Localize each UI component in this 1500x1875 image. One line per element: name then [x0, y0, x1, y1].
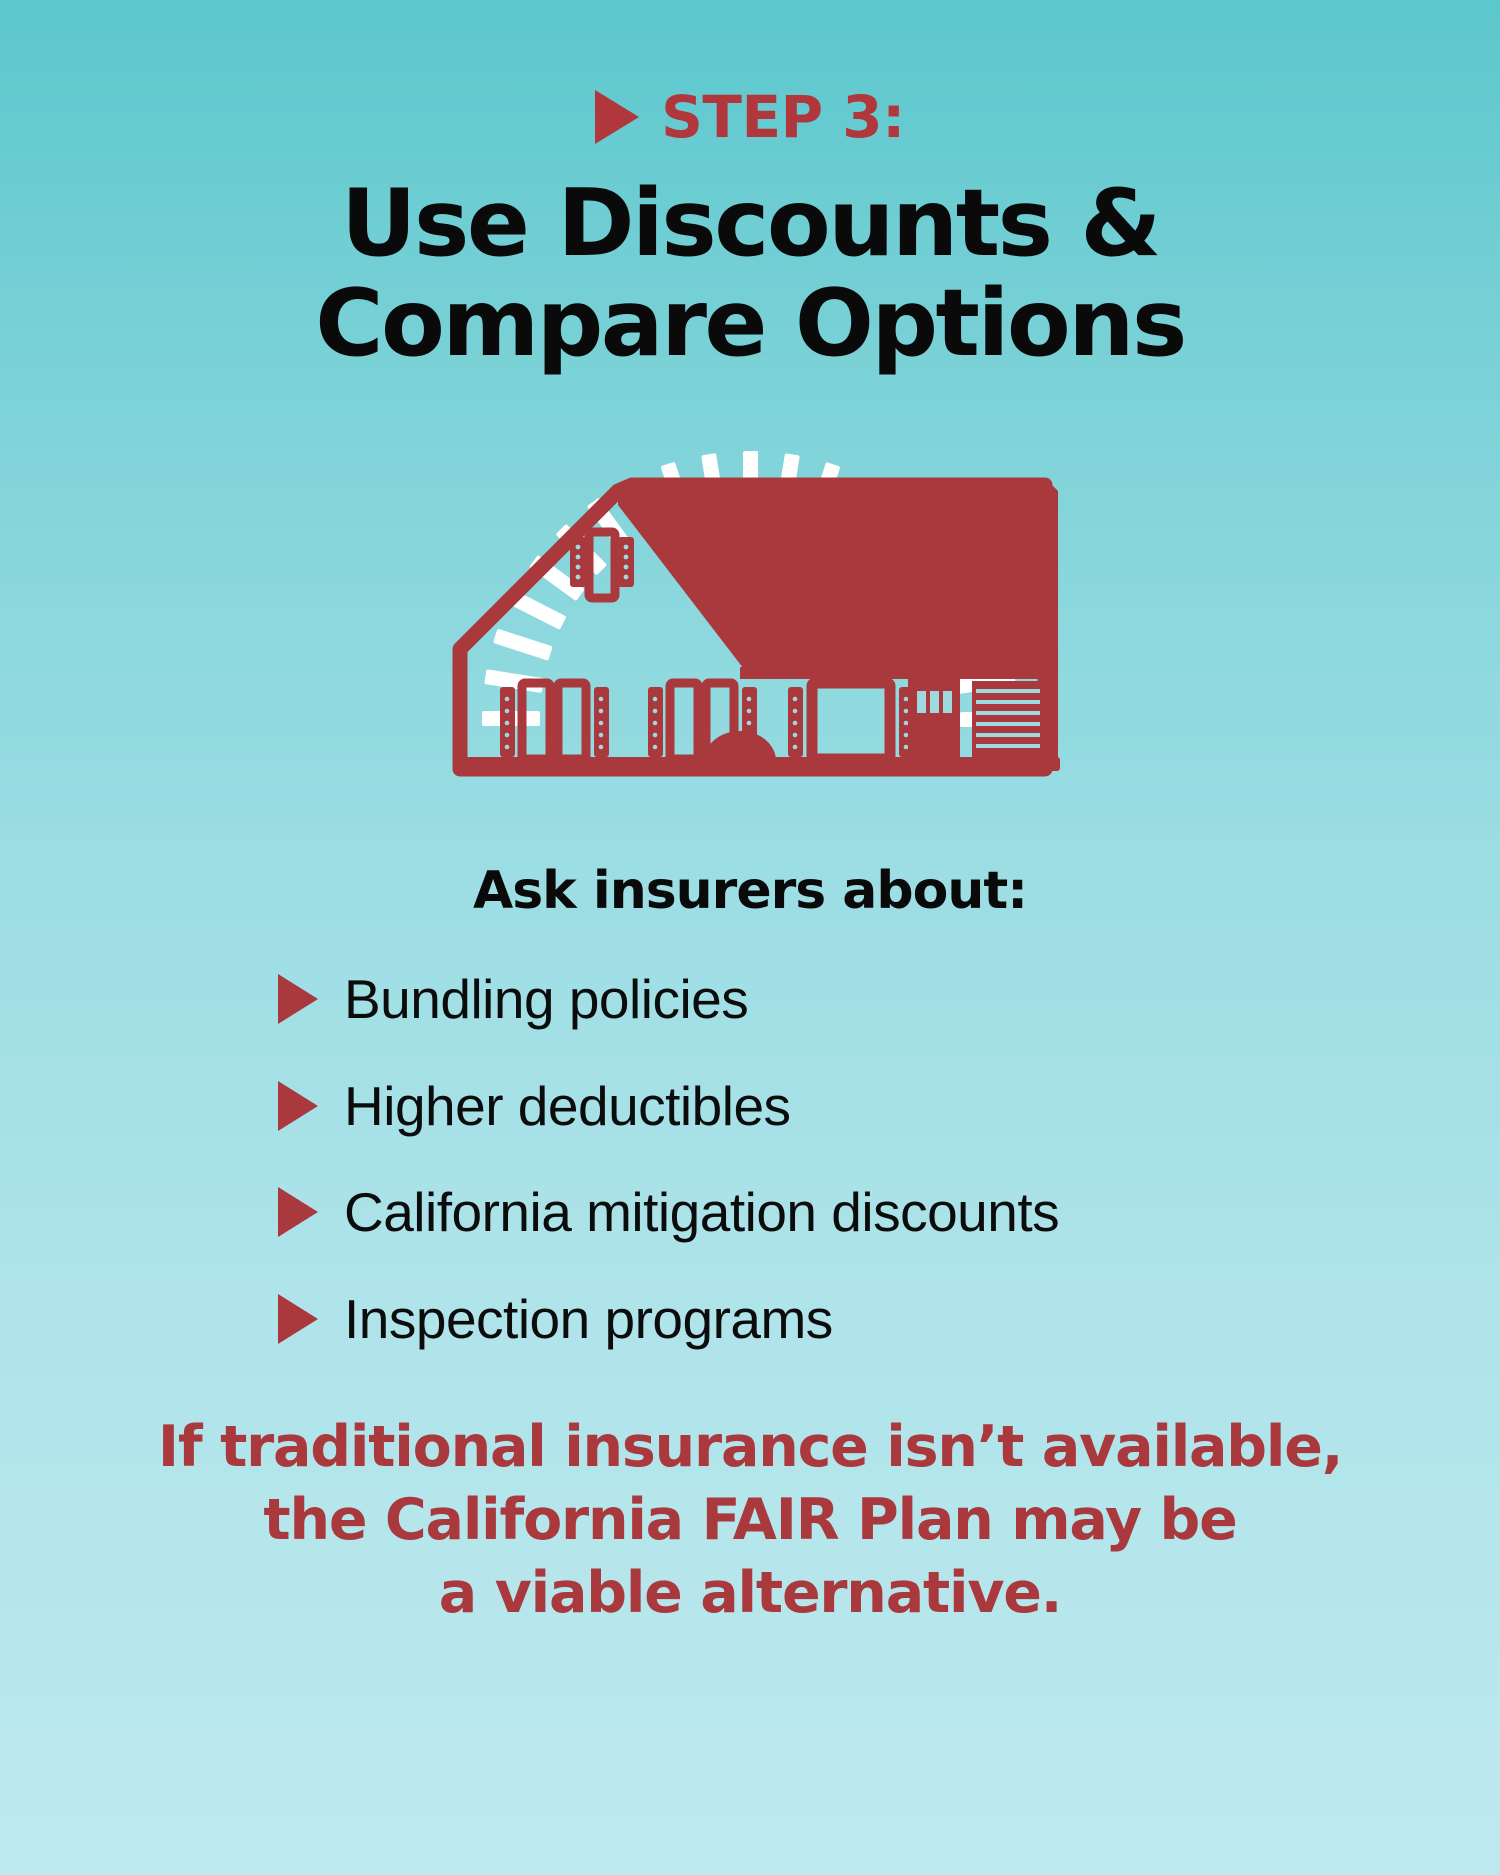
page-title: Use Discounts & Compare Options	[130, 174, 1370, 373]
right-triangle-icon	[595, 90, 639, 144]
headline-line-1: Use Discounts &	[341, 169, 1159, 277]
house-with-sunburst-illustration	[300, 419, 1200, 819]
front-bush	[704, 731, 776, 761]
front-door	[908, 677, 960, 759]
list-item: Higher deductibles	[278, 1076, 1500, 1137]
headline-line-2: Compare Options	[130, 274, 1370, 374]
house-icon	[455, 481, 1060, 771]
step-label: STEP 3:	[661, 88, 905, 146]
footer-callout: If traditional insurance isn’t available…	[150, 1411, 1350, 1630]
striped-garage-door	[972, 681, 1044, 759]
right-triangle-icon	[278, 1187, 318, 1237]
list-item-label: Inspection programs	[344, 1289, 833, 1350]
step-eyebrow: STEP 3:	[595, 88, 905, 146]
list-item: California mitigation discounts	[278, 1182, 1500, 1243]
right-triangle-icon	[278, 1294, 318, 1344]
list-item: Inspection programs	[278, 1289, 1500, 1350]
list-item: Bundling policies	[278, 969, 1500, 1030]
footer-line-1: If traditional insurance isn’t available…	[150, 1411, 1350, 1484]
list-item-label: Bundling policies	[344, 969, 748, 1030]
right-triangle-icon	[278, 974, 318, 1024]
picture-window	[788, 683, 914, 759]
list-item-label: California mitigation discounts	[344, 1182, 1059, 1243]
infographic-poster: STEP 3: Use Discounts & Compare Options	[0, 0, 1500, 1875]
footer-line-3: a viable alternative.	[150, 1557, 1350, 1630]
discount-list: Bundling policies Higher deductibles Cal…	[0, 969, 1500, 1349]
right-triangle-icon	[278, 1081, 318, 1131]
list-item-label: Higher deductibles	[344, 1076, 791, 1137]
footer-line-2: the California FAIR Plan may be	[150, 1484, 1350, 1557]
ask-heading: Ask insurers about:	[473, 861, 1027, 921]
